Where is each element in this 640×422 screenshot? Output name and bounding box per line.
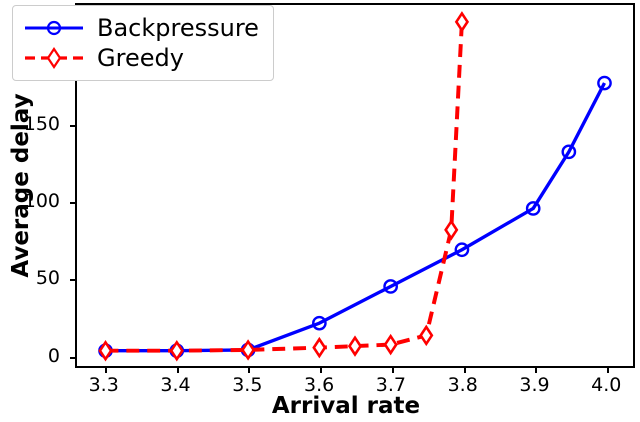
x-tick-label-3.7: 3.7 [376,374,406,396]
legend-item-greedy: Greedy [23,43,259,73]
data-point-greedy-3 [314,339,325,356]
x-tick-mark-3.9 [535,366,537,373]
x-tick-label-3.3: 3.3 [89,374,119,396]
x-tick-mark-3.6 [320,366,322,373]
legend-sample-line-solid-circle [23,15,85,41]
y-tick-label-50: 50 [0,267,60,289]
data-point-greedy-4 [349,338,360,355]
y-tick-mark-50 [70,279,77,281]
x-tick-mark-3.4 [177,366,179,373]
data-point-greedy-8 [456,13,467,30]
y-tick-label-100: 100 [0,190,60,212]
data-point-greedy-5 [385,336,396,353]
legend-label-greedy: Greedy [97,45,184,71]
x-tick-label-3.6: 3.6 [304,374,334,396]
legend-item-backpressure: Backpressure [23,13,259,43]
x-tick-label-4.0: 4.0 [591,374,621,396]
x-tick-label-3.9: 3.9 [519,374,549,396]
x-tick-label-3.8: 3.8 [448,374,478,396]
x-axis-label: Arrival rate [0,393,640,419]
data-point-greedy-7 [446,221,457,238]
x-tick-mark-3.5 [248,366,250,373]
chart-figure: Average delay Arrival rate 3.33.43.53.63… [0,0,640,422]
y-tick-label-150: 150 [0,113,60,135]
x-tick-label-3.5: 3.5 [232,374,262,396]
x-tick-label-3.4: 3.4 [160,374,190,396]
x-tick-mark-4.0 [607,366,609,373]
legend-label-backpressure: Backpressure [97,15,259,41]
x-tick-mark-3.3 [105,366,107,373]
x-tick-mark-3.8 [464,366,466,373]
chart-legend: Backpressure Greedy [12,5,274,81]
legend-sample-line-dashed-diamond [23,45,85,71]
y-tick-mark-0 [70,357,77,359]
y-tick-label-0: 0 [0,345,60,367]
series-line-backpressure [106,83,605,351]
y-tick-mark-100 [70,202,77,204]
y-tick-mark-150 [70,125,77,127]
data-point-greedy-6 [421,327,432,344]
data-point-backpressure-8 [598,77,610,89]
x-tick-mark-3.7 [392,366,394,373]
